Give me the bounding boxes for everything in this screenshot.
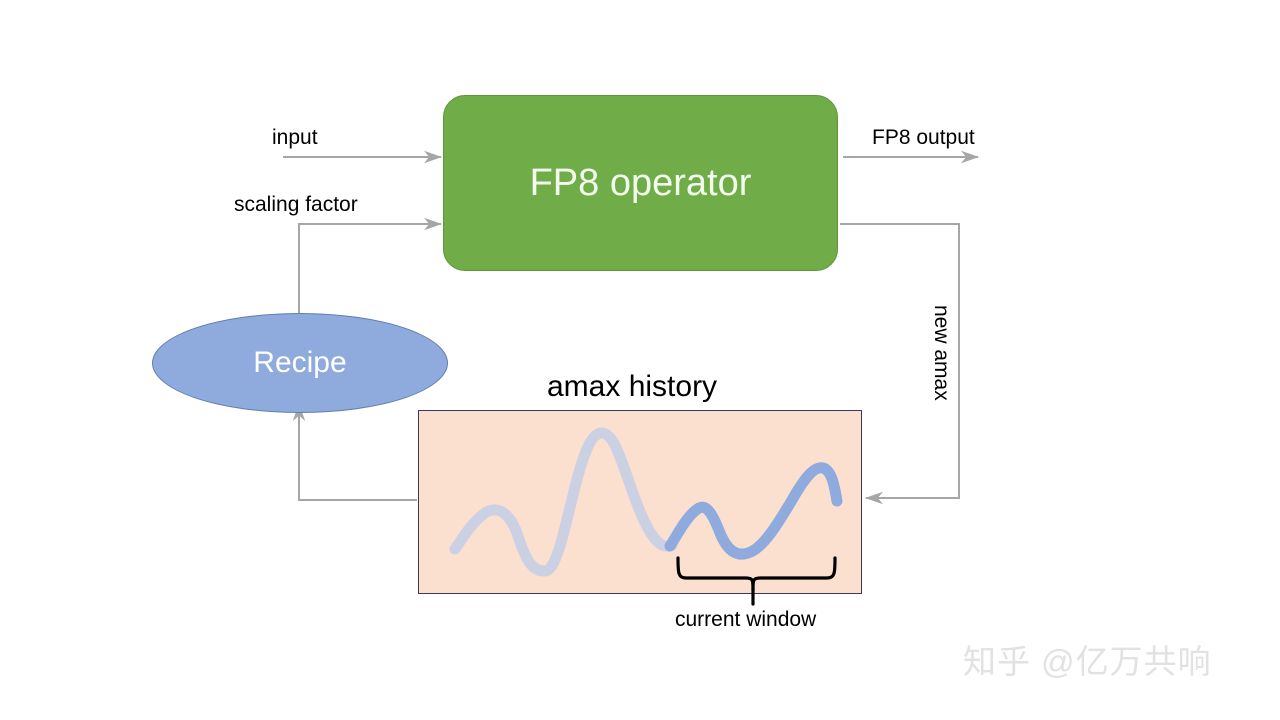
amax-curve-layer: [0, 0, 1280, 720]
edge-label-scaling-factor: scaling factor: [234, 194, 358, 215]
current-window-label: current window: [675, 609, 816, 630]
amax-curve-past: [455, 433, 672, 571]
diagram-canvas: FP8 operator Recipe input scaling factor…: [0, 0, 1280, 720]
amax-curve-current: [670, 468, 837, 554]
edge-label-fp8-output: FP8 output: [872, 127, 975, 148]
amax-history-title: amax history: [547, 372, 717, 402]
curly-brace-icon: [678, 558, 835, 590]
edge-label-input: input: [272, 127, 318, 148]
watermark: 知乎 @亿万共响: [963, 645, 1212, 678]
edge-label-new-amax: new amax: [929, 305, 953, 401]
